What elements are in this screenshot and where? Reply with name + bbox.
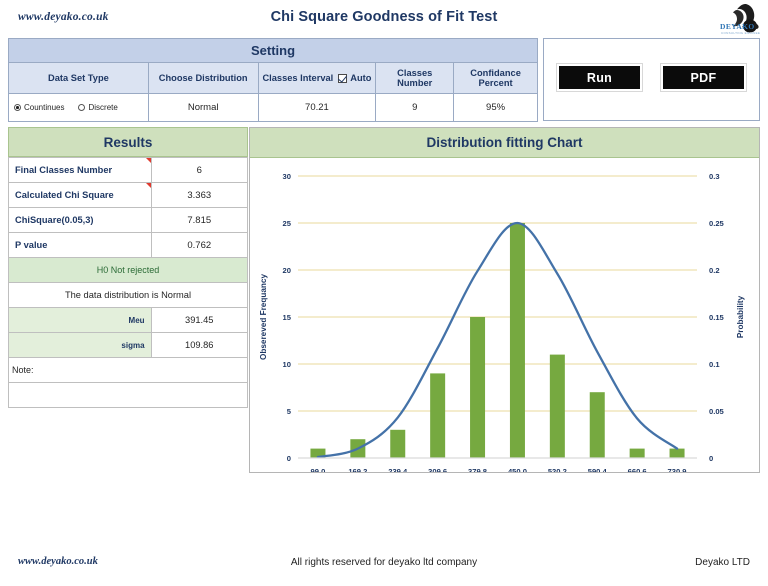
- stat-value-meu: 391.45: [151, 308, 247, 333]
- x-axis-tick-239.4: 239.4: [388, 467, 408, 472]
- hypothesis-verdict-badge: H0 Not rejected: [9, 258, 248, 283]
- stat-label-meu: Meu: [9, 308, 152, 333]
- deyako-eagle-logo: DEYAKO CONSULTING ENGINEERS: [702, 2, 760, 38]
- result-label-chisquare-critical: ChiSquare(0.05,3): [9, 208, 152, 233]
- stat-value-sigma: 109.86: [151, 333, 247, 358]
- actions-panel: Run PDF: [543, 38, 760, 121]
- radio-discrete[interactable]: Discrete: [78, 103, 117, 112]
- result-label-p-value: P value: [9, 233, 152, 258]
- chart-bar: [550, 355, 565, 458]
- col-header-choose-distribution: Choose Distribution: [148, 63, 258, 94]
- run-button[interactable]: Run: [557, 64, 642, 91]
- y-axis-title: Obsereved Frequancy: [259, 274, 268, 360]
- comment-marker-icon: [146, 158, 151, 163]
- result-value-chisquare-critical: 7.815: [151, 208, 247, 233]
- chart-bar: [390, 430, 405, 458]
- classes-interval-value[interactable]: 70.21: [258, 94, 376, 122]
- result-value-p-value: 0.762: [151, 233, 247, 258]
- radio-discrete-dot[interactable]: [78, 104, 85, 111]
- y2-axis-tick-0.05: 0.05: [709, 407, 725, 416]
- classes-interval-label: Classes Interval: [262, 73, 333, 83]
- radio-countinues[interactable]: Countinues: [14, 103, 64, 112]
- result-value-calculated-chi-square: 3.363: [151, 183, 247, 208]
- result-label-final-classes-number: Final Classes Number: [9, 158, 152, 183]
- table-row: P value 0.762: [9, 233, 248, 258]
- result-label-calculated-chi-square: Calculated Chi Square: [9, 183, 152, 208]
- y-axis-tick-30: 30: [283, 172, 291, 181]
- col-header-confidance-percent: Confidance Percent: [454, 63, 538, 94]
- x-axis-tick-99.0: 99.0: [311, 467, 326, 472]
- data-set-type-radio-group[interactable]: Countinues Discrete: [9, 94, 149, 122]
- y2-axis-tick-0.3: 0.3: [709, 172, 720, 181]
- chart-bar: [590, 392, 605, 458]
- app-header: www.deyako.co.uk Chi Square Goodness of …: [0, 0, 768, 38]
- result-label-text: P value: [15, 240, 47, 250]
- app-footer: www.deyako.co.uk All rights reserved for…: [0, 554, 768, 574]
- col-header-classes-number: Classes Number: [376, 63, 454, 94]
- result-label-text: Final Classes Number: [15, 165, 112, 175]
- x-axis-tick-590.4: 590.4: [588, 467, 608, 472]
- table-row: The data distribution is Normal: [9, 283, 248, 308]
- conclusion-text: The data distribution is Normal: [9, 283, 248, 308]
- svg-text:CONSULTING ENGINEERS: CONSULTING ENGINEERS: [721, 31, 760, 35]
- auto-checkbox-label: Auto: [350, 73, 371, 83]
- confidance-percent-value[interactable]: 95%: [454, 94, 538, 122]
- chi-square-app-window: www.deyako.co.uk Chi Square Goodness of …: [0, 0, 768, 586]
- y2-axis-tick-0.25: 0.25: [709, 219, 725, 228]
- distribution-value[interactable]: Normal: [148, 94, 258, 122]
- table-row: [9, 383, 248, 408]
- y2-axis-tick-0: 0: [709, 454, 713, 463]
- footer-copyright: All rights reserved for deyako ltd compa…: [0, 557, 768, 568]
- probability-curve: [318, 223, 677, 457]
- distribution-fitting-chart-panel: Distribution fitting Chart 0510152025300…: [249, 127, 760, 473]
- y2-axis-title: Probability: [736, 295, 745, 338]
- auto-checkbox-box[interactable]: [338, 74, 347, 83]
- auto-checkbox[interactable]: Auto: [338, 73, 371, 83]
- svg-text:DEYAKO: DEYAKO: [720, 22, 755, 31]
- chart-plot-area: 05101520253000.050.10.150.20.250.399.016…: [250, 158, 759, 472]
- x-axis-tick-379.8: 379.8: [468, 467, 487, 472]
- results-panel: Results Final Classes Number 6 Calculate…: [8, 127, 248, 408]
- col-header-data-set-type: Data Set Type: [9, 63, 149, 94]
- table-row: Calculated Chi Square 3.363: [9, 183, 248, 208]
- y-axis-tick-5: 5: [287, 407, 292, 416]
- y2-axis-tick-0.15: 0.15: [709, 313, 725, 322]
- table-row: sigma 109.86: [9, 333, 248, 358]
- chart-bar: [430, 373, 445, 458]
- x-axis-tick-660.6: 660.6: [628, 467, 647, 472]
- chart-bar: [670, 449, 685, 458]
- chart-bar: [470, 317, 485, 458]
- result-value-final-classes-number: 6: [151, 158, 247, 183]
- y-axis-tick-15: 15: [283, 313, 292, 322]
- table-row: Note:: [9, 358, 248, 383]
- stat-label-sigma: sigma: [9, 333, 152, 358]
- note-label: Note:: [9, 358, 248, 383]
- x-axis-tick-730.9: 730.9: [668, 467, 687, 472]
- y-axis-tick-25: 25: [283, 219, 292, 228]
- classes-number-value[interactable]: 9: [376, 94, 454, 122]
- settings-table: Setting Data Set Type Choose Distributio…: [8, 38, 538, 122]
- x-axis-tick-309.6: 309.6: [428, 467, 447, 472]
- table-row: Meu 391.45: [9, 308, 248, 333]
- col-header-classes-interval: Classes Interval Auto: [258, 63, 376, 94]
- result-label-text: Calculated Chi Square: [15, 190, 114, 200]
- results-table: Final Classes Number 6 Calculated Chi Sq…: [8, 157, 248, 408]
- radio-discrete-label: Discrete: [88, 103, 117, 112]
- result-label-text: ChiSquare(0.05,3): [15, 215, 94, 225]
- x-axis-tick-450.0: 450.0: [508, 467, 527, 472]
- y2-axis-tick-0.2: 0.2: [709, 266, 720, 275]
- chart-bar: [510, 223, 525, 458]
- table-row: Final Classes Number 6: [9, 158, 248, 183]
- page-title: Chi Square Goodness of Fit Test: [0, 9, 768, 25]
- chart-svg: 05101520253000.050.10.150.20.250.399.016…: [250, 158, 759, 472]
- settings-panel-title: Setting: [9, 39, 538, 63]
- comment-marker-icon: [146, 183, 151, 188]
- pdf-button[interactable]: PDF: [661, 64, 746, 91]
- y-axis-tick-0: 0: [287, 454, 291, 463]
- y-axis-tick-10: 10: [283, 360, 291, 369]
- y2-axis-tick-0.1: 0.1: [709, 360, 720, 369]
- note-input[interactable]: [9, 383, 248, 408]
- y-axis-tick-20: 20: [283, 266, 291, 275]
- radio-countinues-label: Countinues: [24, 103, 64, 112]
- chart-panel-title: Distribution fitting Chart: [250, 128, 759, 158]
- table-row: H0 Not rejected: [9, 258, 248, 283]
- chart-bar: [630, 449, 645, 458]
- x-axis-tick-520.2: 520.2: [548, 467, 567, 472]
- radio-countinues-dot[interactable]: [14, 104, 21, 111]
- results-panel-title: Results: [8, 127, 248, 157]
- table-row: ChiSquare(0.05,3) 7.815: [9, 208, 248, 233]
- footer-company: Deyako LTD: [695, 557, 750, 568]
- x-axis-tick-169.2: 169.2: [348, 467, 367, 472]
